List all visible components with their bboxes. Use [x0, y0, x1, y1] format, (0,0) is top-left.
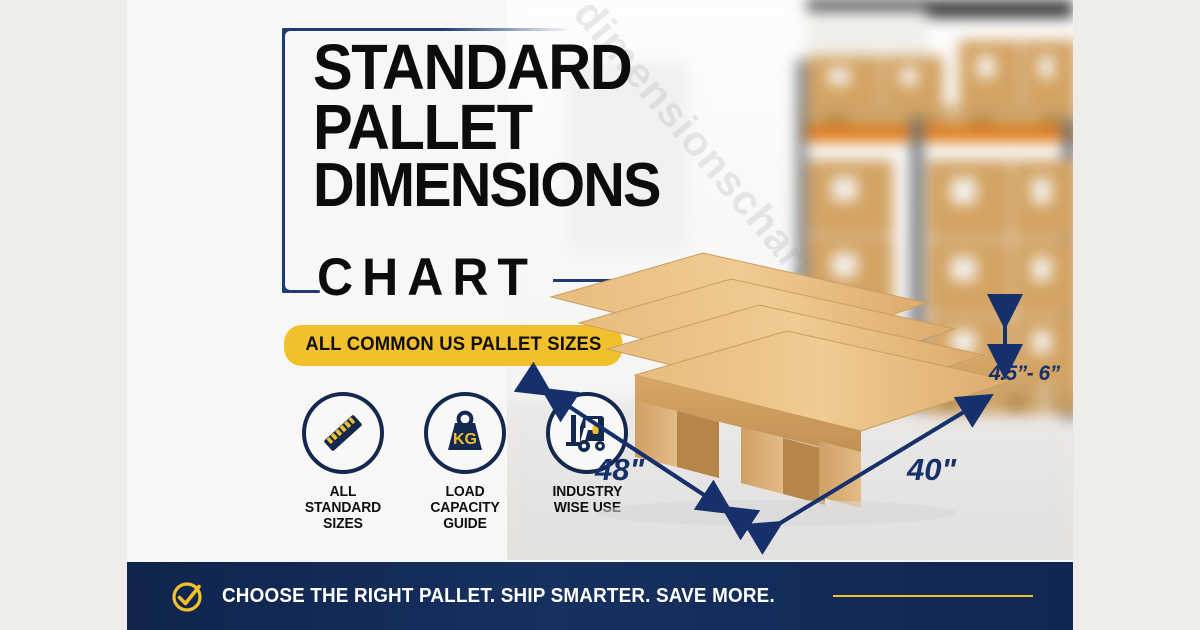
pallet-photo — [527, 245, 1047, 535]
dimension-label-width: 40" — [907, 452, 956, 488]
title-line-2: PALLET — [313, 98, 834, 158]
bottom-banner: CHOOSE THE RIGHT PALLET. SHIP SMARTER. S… — [127, 562, 1073, 630]
feature-icon-circle: KG — [424, 392, 506, 474]
banner-rule — [833, 595, 1033, 597]
page-title: STANDARD PALLET DIMENSIONS — [313, 38, 873, 215]
dimension-label-height: 4.5”- 6” — [989, 362, 1060, 386]
content-card: dimensionschart.com STANDARD PALLET DIME… — [127, 0, 1073, 630]
ruler-icon — [317, 407, 369, 459]
kg-text: KG — [453, 431, 477, 448]
pallet-illustration — [527, 245, 1047, 535]
banner-text: CHOOSE THE RIGHT PALLET. SHIP SMARTER. S… — [222, 584, 775, 608]
title-line-4: CHART — [317, 251, 537, 304]
title-line-1: STANDARD — [313, 38, 834, 98]
check-circle-icon — [170, 578, 206, 614]
feature-icon-circle — [302, 392, 384, 474]
feature-label-line-1: ALL STANDARD — [305, 484, 381, 516]
dimension-label-length: 48" — [595, 452, 644, 488]
feature-item-standard-sizes[interactable]: ALL STANDARD SIZES — [295, 392, 391, 533]
weight-kg-icon: KG — [439, 407, 491, 459]
title-line-3: DIMENSIONS — [313, 157, 834, 215]
feature-item-load-capacity[interactable]: KG LOAD CAPACITY GUIDE — [417, 392, 513, 533]
feature-label: LOAD CAPACITY GUIDE — [419, 484, 511, 533]
feature-label-line-2: GUIDE — [443, 516, 487, 532]
infographic-canvas: dimensionschart.com STANDARD PALLET DIME… — [0, 0, 1200, 630]
feature-label-line-2: SIZES — [323, 516, 363, 532]
feature-label: ALL STANDARD SIZES — [297, 484, 389, 533]
feature-label-line-1: LOAD CAPACITY — [430, 484, 499, 516]
